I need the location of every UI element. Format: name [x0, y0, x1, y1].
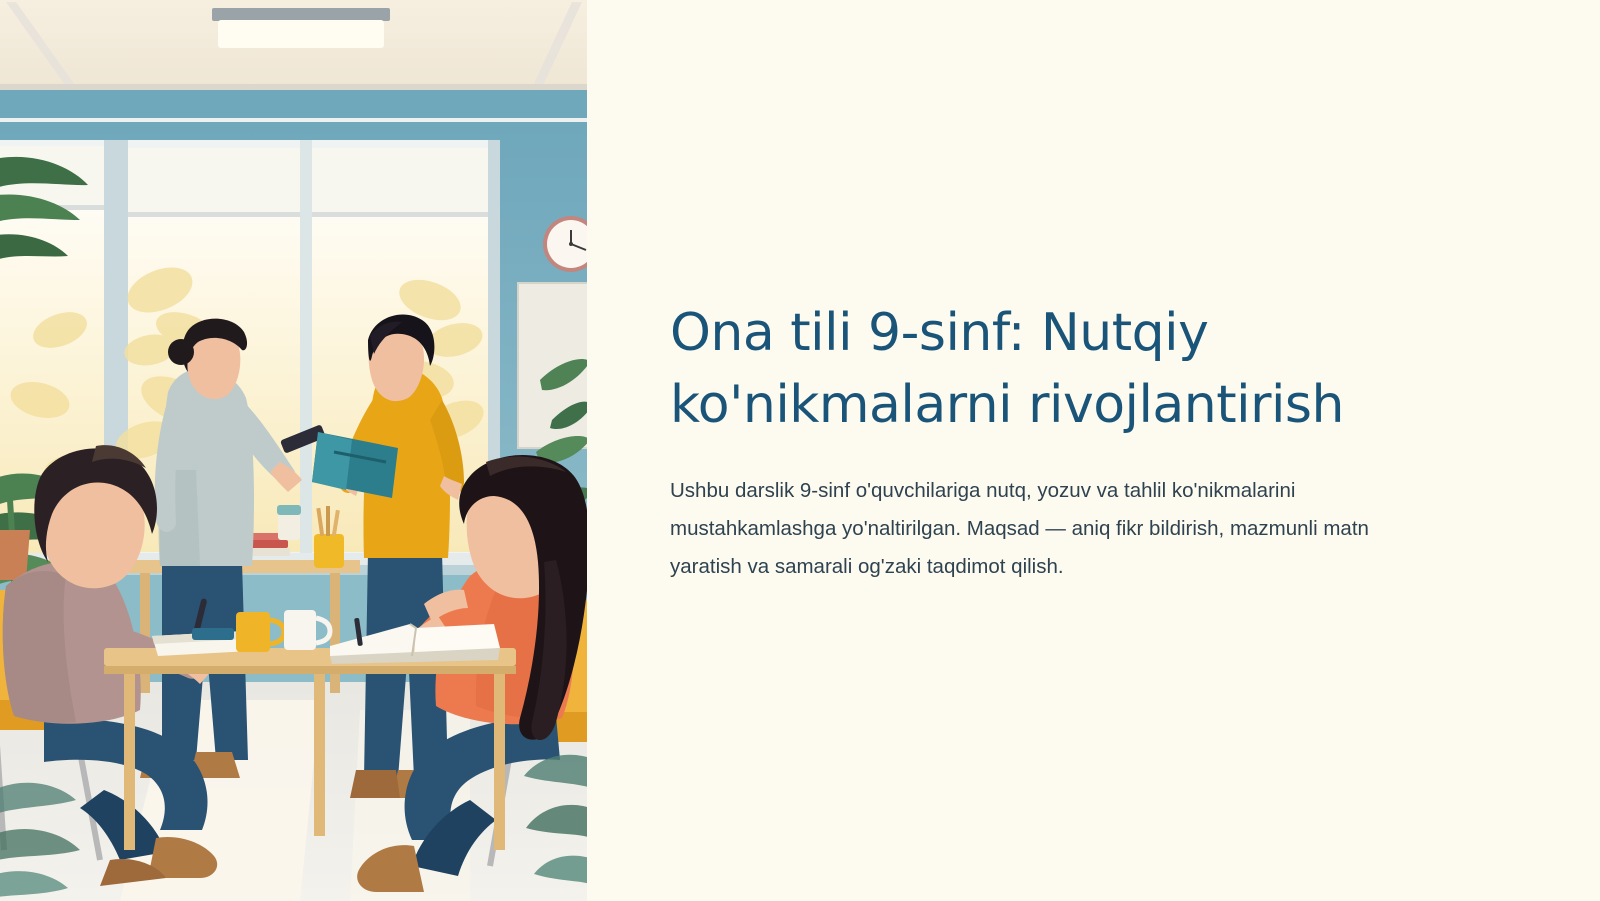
slide-text-block: Ona tili 9-sinf: Nutqiy ko'nikmalarni ri… — [670, 298, 1460, 586]
slide-title: Ona tili 9-sinf: Nutqiy ko'nikmalarni ri… — [670, 298, 1460, 442]
slide-subtitle: Ushbu darslik 9-sinf o'quvchilariga nutq… — [670, 472, 1440, 586]
illustration-svg — [0, 0, 587, 901]
presentation-slide: Ona tili 9-sinf: Nutqiy ko'nikmalarni ri… — [0, 0, 1600, 901]
classroom-illustration — [0, 0, 587, 901]
coffee-cup-sill — [277, 505, 301, 540]
hair-bun — [168, 339, 194, 365]
text-panel: Ona tili 9-sinf: Nutqiy ko'nikmalarni ri… — [587, 0, 1600, 901]
ceiling-light-icon — [212, 8, 390, 48]
ceiling-trim — [0, 84, 587, 90]
wall-upper-band — [0, 90, 587, 120]
